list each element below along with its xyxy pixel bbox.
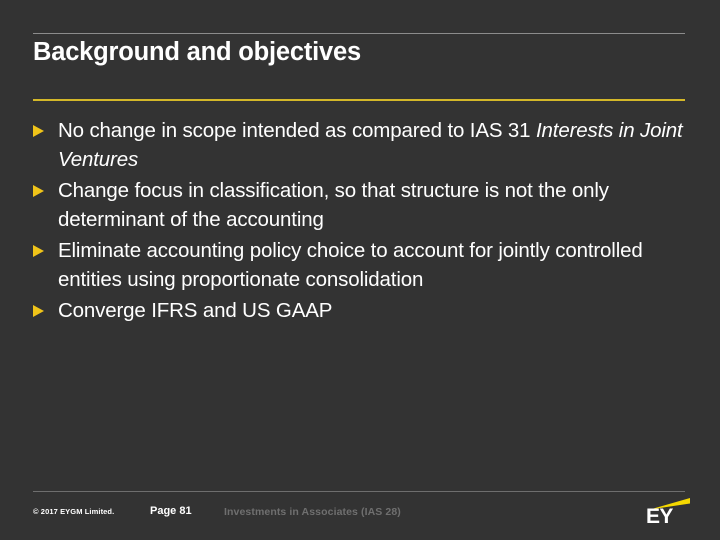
triangle-right-icon — [33, 236, 58, 257]
list-item-text-lead: Change focus in classification, so that … — [58, 179, 609, 231]
list-item-text: Converge IFRS and US GAAP — [58, 296, 685, 325]
list-item-text-lead: Converge IFRS and US GAAP — [58, 299, 332, 322]
bullet-list: No change in scope intended as compared … — [33, 116, 685, 327]
list-item-text: Eliminate accounting policy choice to ac… — [58, 236, 685, 294]
page-number: Page 81 — [150, 505, 192, 517]
ey-logo: EY — [646, 497, 694, 527]
triangle-right-icon — [33, 176, 58, 197]
title-rule-accent — [33, 99, 685, 101]
copyright-text: © 2017 EYGM Limited. — [33, 507, 114, 516]
list-item-text-lead: No change in scope intended as compared … — [58, 119, 536, 142]
page-title: Background and objectives — [33, 36, 685, 68]
list-item-text-lead: Eliminate accounting policy choice to ac… — [58, 239, 643, 291]
list-item: Change focus in classification, so that … — [33, 176, 685, 234]
title-rule-top — [33, 33, 685, 34]
list-item: Eliminate accounting policy choice to ac… — [33, 236, 685, 294]
ey-wordmark: EY — [646, 506, 673, 527]
footer-subject-text: Investments in Associates (IAS 28) — [224, 506, 401, 518]
list-item-text: Change focus in classification, so that … — [58, 176, 685, 234]
triangle-right-icon — [33, 296, 58, 317]
slide: Background and objectives No change in s… — [0, 0, 720, 540]
list-item: Converge IFRS and US GAAP — [33, 296, 685, 325]
footer: © 2017 EYGM Limited. Page 81 Investments… — [33, 505, 685, 525]
triangle-right-icon — [33, 116, 58, 137]
footer-rule — [33, 491, 685, 492]
list-item: No change in scope intended as compared … — [33, 116, 685, 174]
list-item-text: No change in scope intended as compared … — [58, 116, 685, 174]
